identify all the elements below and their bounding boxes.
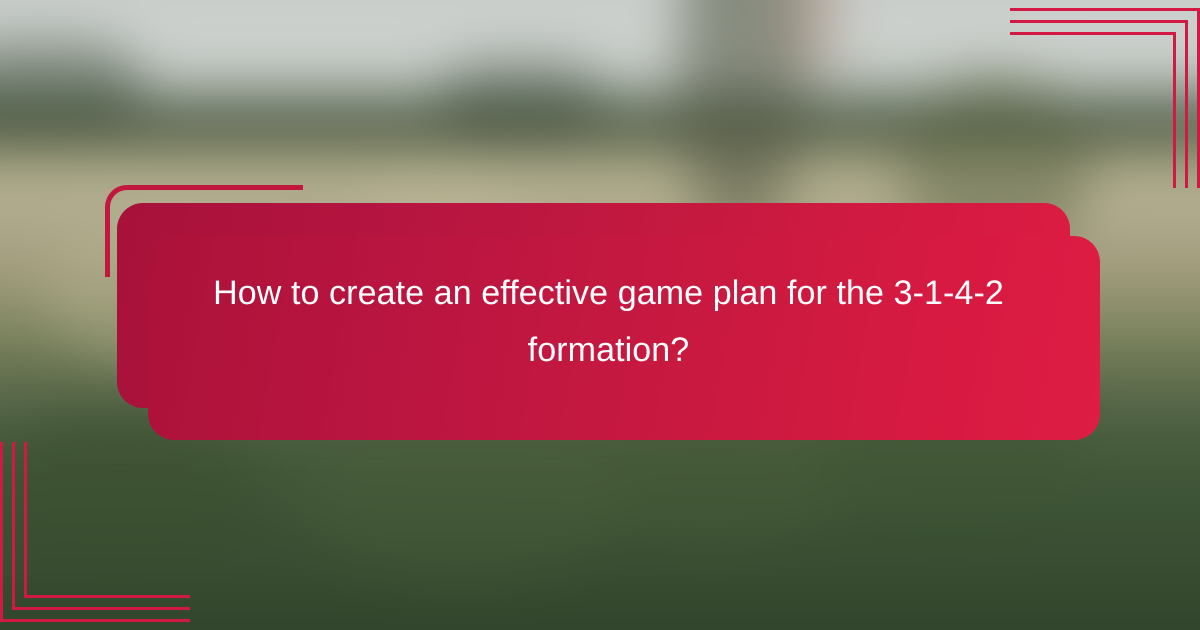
background-blur-blob	[0, 40, 140, 130]
card-content: How to create an effective game plan for…	[117, 203, 1100, 440]
share-card-canvas: How to create an effective game plan for…	[0, 0, 1200, 630]
background-blur-blob	[440, 60, 600, 140]
card-title: How to create an effective game plan for…	[209, 265, 1009, 379]
background-blur-blob	[300, 440, 620, 580]
